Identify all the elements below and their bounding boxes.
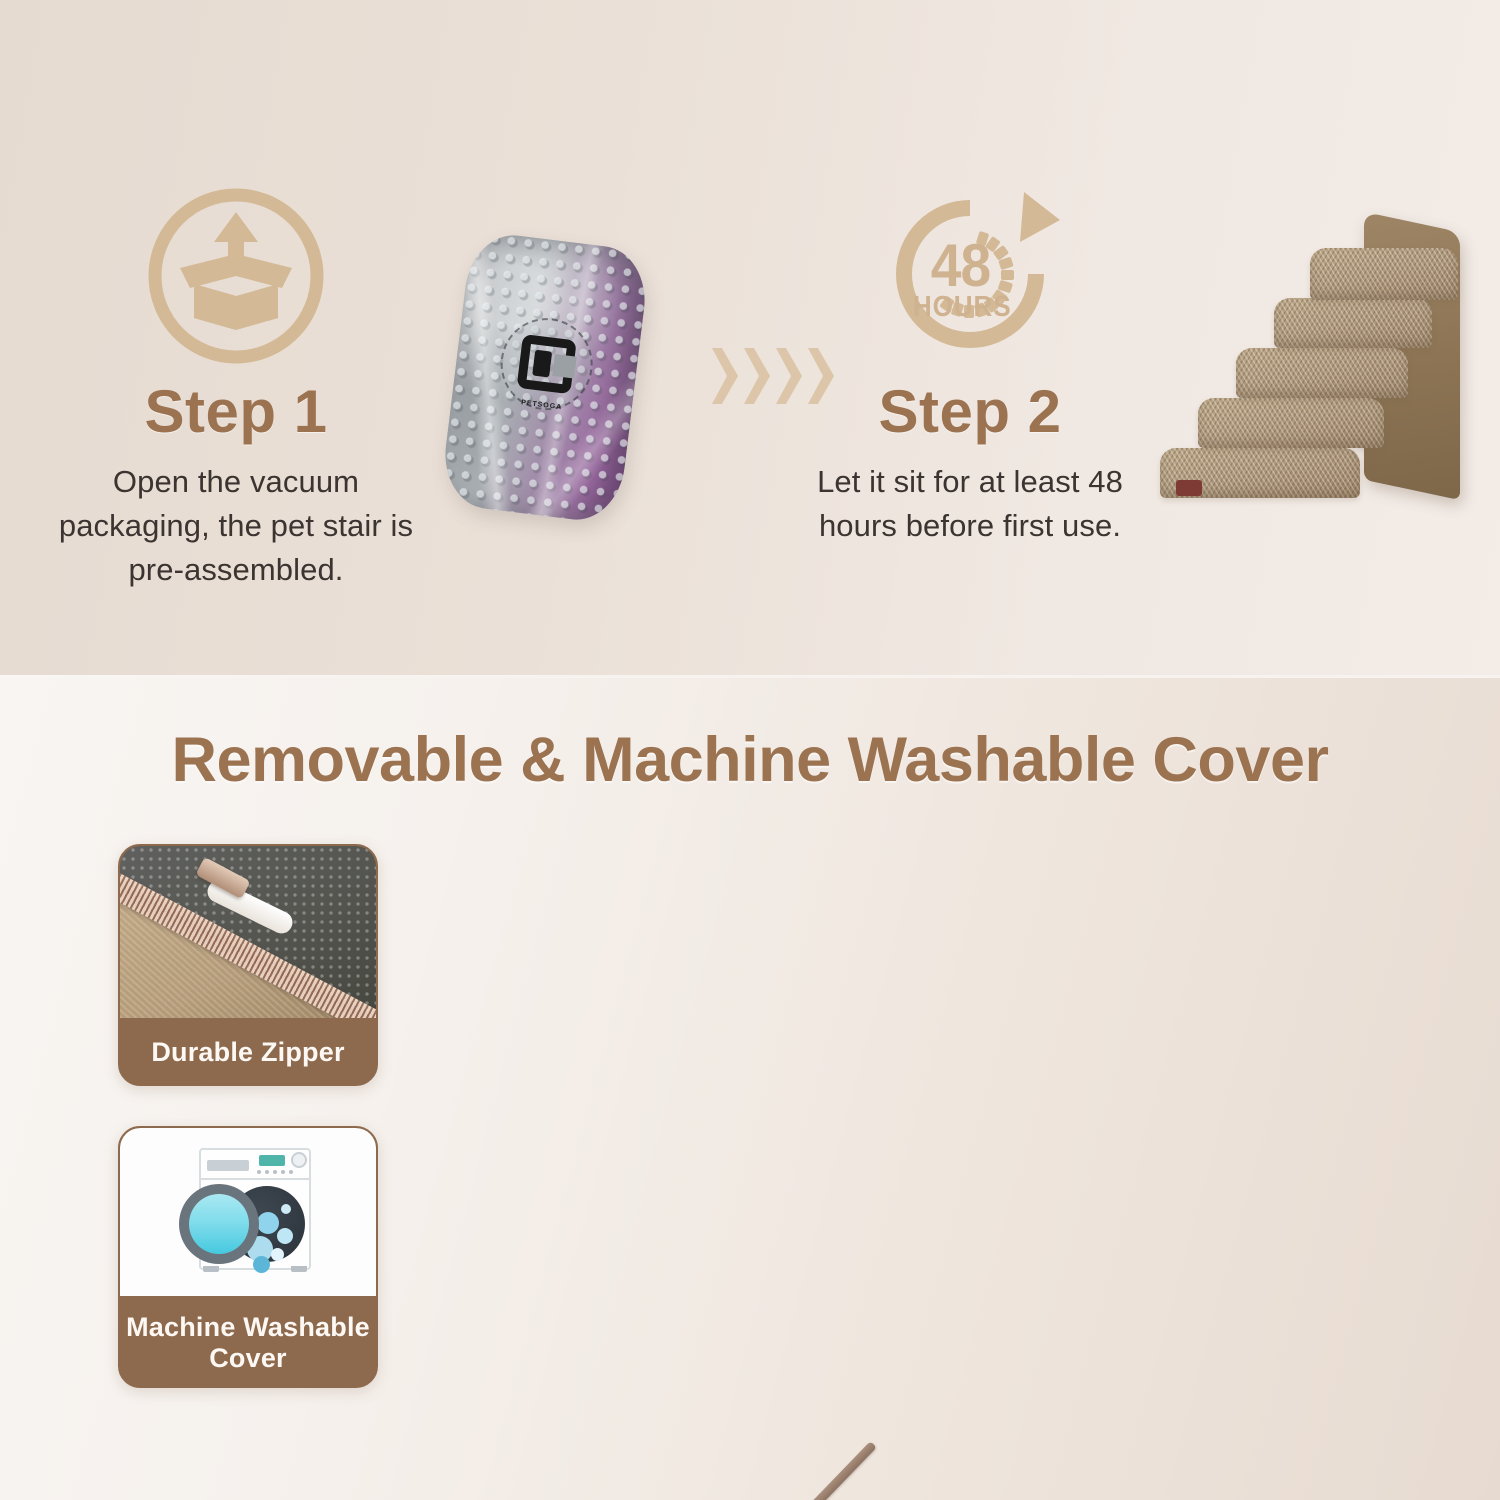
card-label-machine-washable: Machine Washable Cover xyxy=(120,1296,376,1388)
machine-feet xyxy=(203,1266,307,1272)
step-2-block: 48 HOURS Step 2 Let it sit for at least … xyxy=(770,176,1170,548)
steps-panel: Step 1 Open the vacuum packaging, the pe… xyxy=(0,0,1500,678)
feature-card-durable-zipper: Durable Zipper xyxy=(118,844,378,1086)
step-1-description: Open the vacuum packaging, the pet stair… xyxy=(36,460,436,592)
brand-tag xyxy=(1176,480,1202,496)
bubble xyxy=(277,1228,293,1244)
step-1-icon-wrap xyxy=(36,176,436,376)
display-screen xyxy=(259,1155,285,1166)
card-label-durable-zipper: Durable Zipper xyxy=(120,1018,376,1086)
vacuum-packed-roll-photo: PETSOGA xyxy=(439,230,651,525)
step-2-icon-wrap: 48 HOURS xyxy=(770,176,1170,376)
stair-tread xyxy=(1198,398,1384,448)
washing-machine-icon xyxy=(173,1144,323,1280)
step-2-description: Let it sit for at least 48 hours before … xyxy=(770,460,1170,548)
feature-card-machine-washable: Machine Washable Cover xyxy=(118,1126,378,1388)
48-hours-clock-icon: 48 HOURS xyxy=(874,186,1066,366)
step-1-block: Step 1 Open the vacuum packaging, the pe… xyxy=(36,176,436,592)
bubble xyxy=(281,1204,291,1214)
zipper-closeup-photo xyxy=(120,846,376,1018)
washable-cover-panel: Removable & Machine Washable Cover Durab… xyxy=(0,678,1500,1500)
door-glass xyxy=(189,1194,249,1254)
stair-tread xyxy=(1274,298,1432,348)
section-heading: Removable & Machine Washable Cover xyxy=(0,724,1500,796)
zipper-seam xyxy=(683,1441,877,1500)
stair-tread xyxy=(1236,348,1408,398)
program-knob-icon xyxy=(291,1152,307,1168)
chevron-right-icon xyxy=(712,348,738,404)
control-buttons xyxy=(257,1170,293,1174)
step-2-title: Step 2 xyxy=(770,382,1170,442)
open-door xyxy=(179,1184,259,1264)
brand-logo-icon xyxy=(517,334,577,394)
bubble xyxy=(271,1248,284,1261)
open-box-arrow-icon xyxy=(140,180,332,372)
washing-machine-illustration xyxy=(120,1128,376,1296)
five-step-pet-stair-photo xyxy=(1152,212,1470,512)
detergent-drawer xyxy=(207,1160,249,1171)
bubble xyxy=(257,1212,279,1234)
stair-tread xyxy=(1310,248,1458,300)
hours-unit: HOURS xyxy=(913,290,1012,323)
chevron-right-icon xyxy=(744,348,770,404)
step-1-title: Step 1 xyxy=(36,382,436,442)
infographic-page: Step 1 Open the vacuum packaging, the pe… xyxy=(0,0,1500,1500)
